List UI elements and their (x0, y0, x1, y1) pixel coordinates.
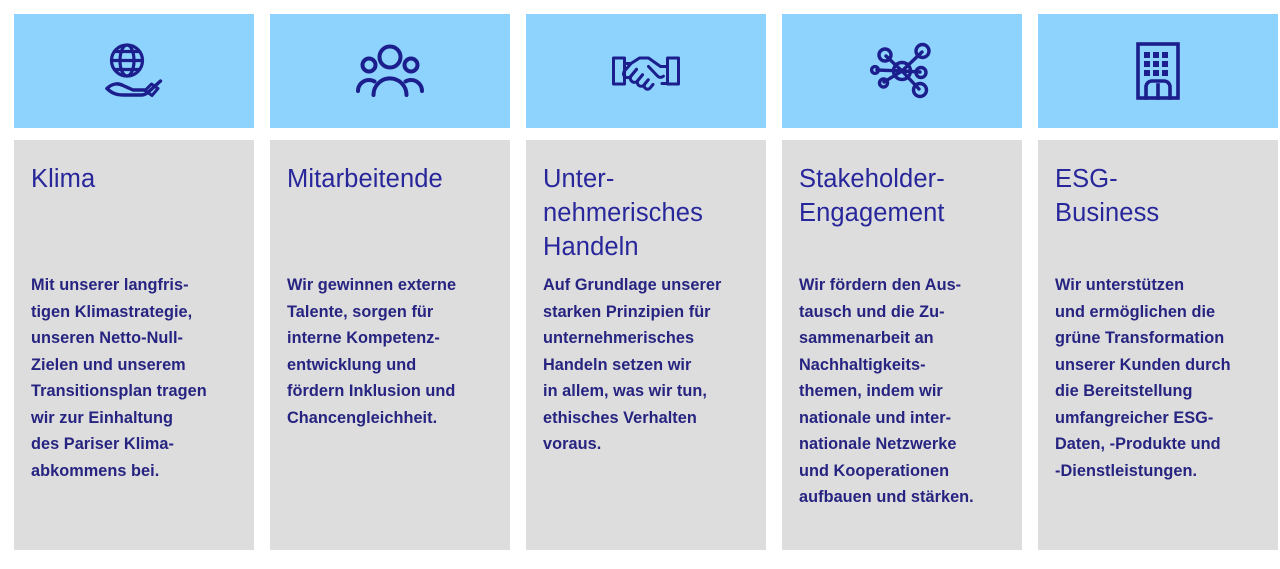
card-title: Unter- nehmerisches Handeln (543, 162, 750, 264)
office-building-icon (1121, 39, 1195, 103)
card-mitarbeitende[interactable]: Mitarbeitende Wir gewinnen externe Talen… (270, 14, 510, 550)
card-row: Klima Mit unserer langfris- tigen Klimas… (14, 14, 1267, 550)
card-header-mitarbeitende (270, 14, 510, 128)
card-title: ESG- Business (1055, 162, 1262, 264)
globe-in-hand-icon (97, 39, 171, 103)
card-header-esg-business (1038, 14, 1278, 128)
card-header-klima (14, 14, 254, 128)
card-esg-business[interactable]: ESG- Business Wir unterstützen und ermög… (1038, 14, 1278, 550)
card-body-stakeholder-engagement: Stakeholder- Engagement Wir fördern den … (782, 140, 1022, 550)
card-text: Auf Grundlage unserer starken Prinzipien… (543, 272, 750, 458)
card-header-unternehmerisches-handeln (526, 14, 766, 128)
card-unternehmerisches-handeln[interactable]: Unter- nehmerisches Handeln Auf Grundlag… (526, 14, 766, 550)
card-klima[interactable]: Klima Mit unserer langfris- tigen Klimas… (14, 14, 254, 550)
network-hub-icon (865, 39, 939, 103)
card-body-mitarbeitende: Mitarbeitende Wir gewinnen externe Talen… (270, 140, 510, 550)
card-text: Wir fördern den Aus- tausch und die Zu- … (799, 272, 1006, 511)
esg-pillars-board: Klima Mit unserer langfris- tigen Klimas… (0, 0, 1280, 569)
card-stakeholder-engagement[interactable]: Stakeholder- Engagement Wir fördern den … (782, 14, 1022, 550)
card-header-stakeholder-engagement (782, 14, 1022, 128)
card-title: Mitarbeitende (287, 162, 494, 264)
card-text: Mit unserer langfris- tigen Klimastrateg… (31, 272, 238, 484)
card-body-esg-business: ESG- Business Wir unterstützen und ermög… (1038, 140, 1278, 550)
card-title: Stakeholder- Engagement (799, 162, 1006, 264)
handshake-icon (609, 39, 683, 103)
people-group-icon (353, 39, 427, 103)
card-body-klima: Klima Mit unserer langfris- tigen Klimas… (14, 140, 254, 550)
card-body-unternehmerisches-handeln: Unter- nehmerisches Handeln Auf Grundlag… (526, 140, 766, 550)
card-text: Wir gewinnen externe Talente, sorgen für… (287, 272, 494, 431)
card-title: Klima (31, 162, 238, 264)
card-text: Wir unterstützen und ermöglichen die grü… (1055, 272, 1262, 484)
